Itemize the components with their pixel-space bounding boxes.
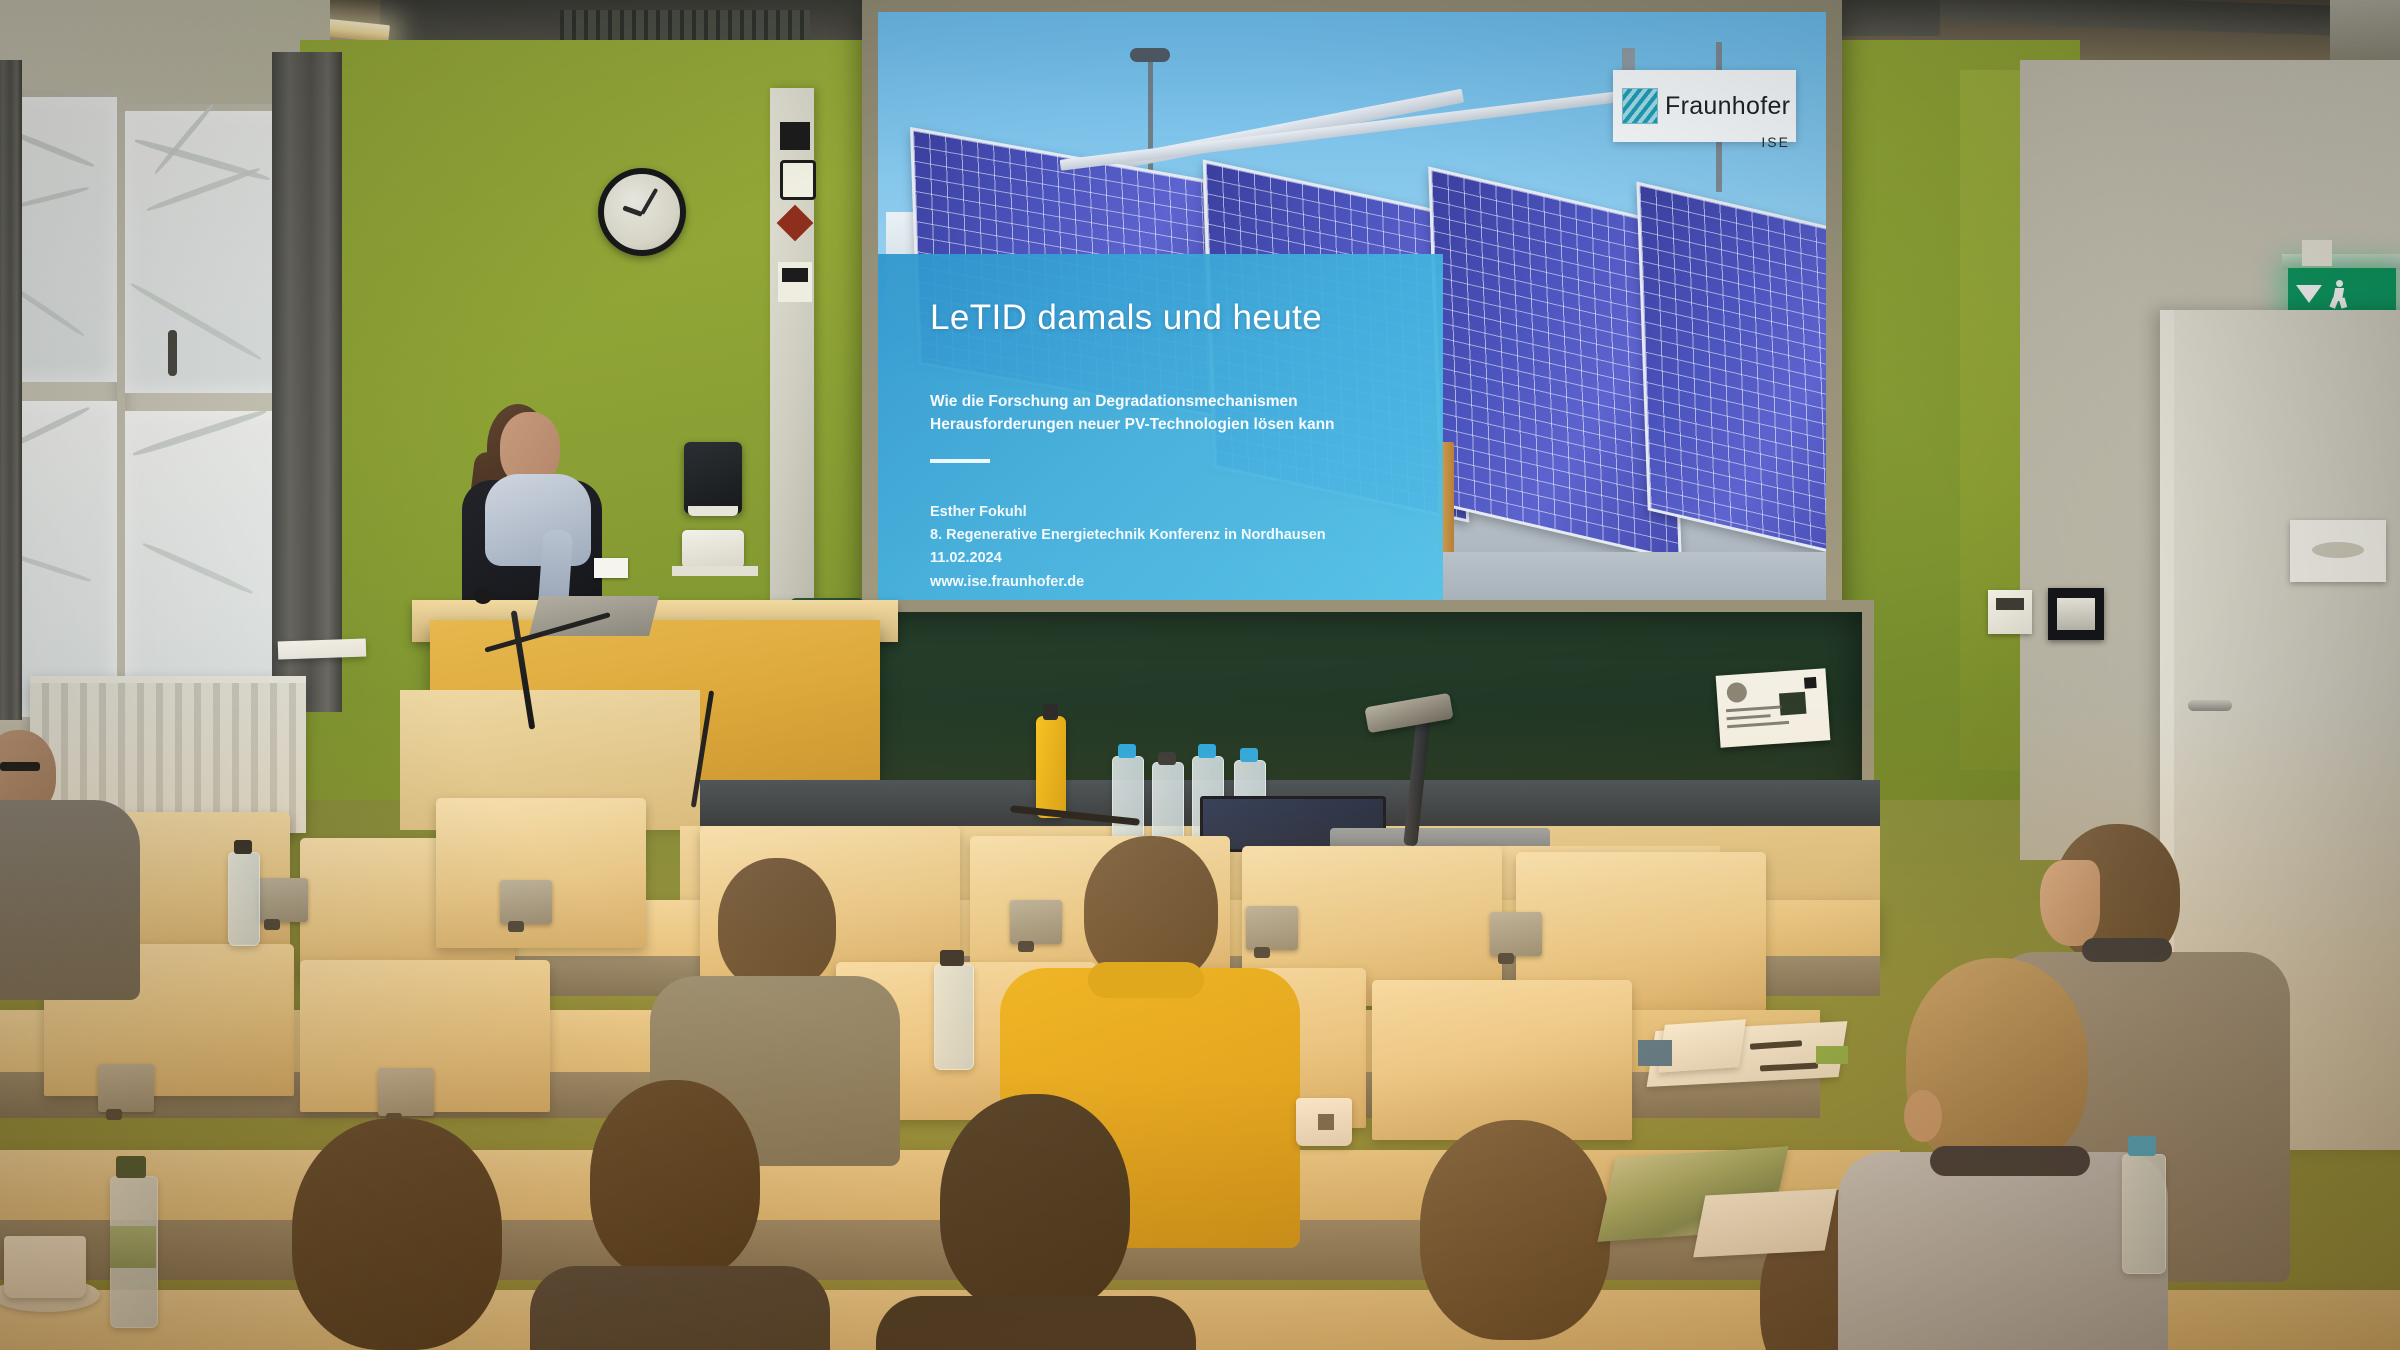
door-notice-symbol bbox=[2312, 542, 2364, 558]
yellow-bottle-cap bbox=[1043, 704, 1058, 720]
fraunhofer-wordmark: Fraunhofer bbox=[1665, 94, 1790, 119]
slide-divider-rule bbox=[930, 459, 990, 463]
speaker-scarf bbox=[485, 474, 591, 566]
desk-microphone[interactable] bbox=[1490, 912, 1542, 956]
down-arrow-icon bbox=[2296, 285, 2322, 303]
mug-logo-icon bbox=[1318, 1114, 1334, 1130]
pv-panel-4 bbox=[1636, 181, 1826, 560]
soap-dispenser[interactable] bbox=[682, 530, 744, 568]
attendee-torso bbox=[530, 1266, 830, 1350]
slide-subtitle: Wie die Forschung an Degradationsmechani… bbox=[930, 390, 1399, 437]
attendee-ear bbox=[1904, 1090, 1942, 1142]
desk-microphone[interactable] bbox=[1010, 900, 1062, 944]
speaker-name-badge bbox=[594, 558, 628, 578]
fraunhofer-diagonal-stripes-icon bbox=[1622, 88, 1658, 124]
water-bottle-cap-2 bbox=[1158, 752, 1176, 765]
desk-microphone[interactable] bbox=[256, 878, 308, 922]
light-switch[interactable] bbox=[1988, 590, 2032, 634]
attendee-head bbox=[292, 1118, 502, 1350]
window-handle[interactable] bbox=[168, 330, 177, 376]
attendee-torso bbox=[876, 1296, 1196, 1350]
blue-booklet[interactable] bbox=[1638, 1040, 1672, 1066]
attendee-face bbox=[2040, 860, 2100, 946]
paper-towel-dispenser bbox=[684, 442, 742, 514]
water-bottle-2[interactable] bbox=[1152, 762, 1184, 844]
wall-clock bbox=[598, 168, 686, 256]
poster-text-line bbox=[1727, 721, 1789, 728]
chalkboard-poster bbox=[1716, 668, 1831, 747]
fire-extinguisher-icon bbox=[780, 160, 816, 200]
projection-screen[interactable]: Fraunhofer ISE LeTID damals und heute Wi… bbox=[878, 12, 1826, 642]
water-bottle-upper-left[interactable] bbox=[228, 852, 260, 946]
upper-wall-panel bbox=[2330, 0, 2400, 60]
water-bottle-green-cap-lid bbox=[116, 1156, 146, 1178]
attendee-head bbox=[940, 1094, 1130, 1314]
fraunhofer-logo: Fraunhofer bbox=[1613, 70, 1796, 142]
seat-back bbox=[436, 798, 646, 948]
slide-author: Esther Fokuhl bbox=[930, 501, 1399, 524]
green-marker bbox=[1816, 1046, 1848, 1064]
slide-text-panel: LeTID damals und heute Wie die Forschung… bbox=[878, 254, 1443, 642]
dispenser-paper bbox=[688, 506, 738, 516]
presentation-slide: Fraunhofer ISE LeTID damals und heute Wi… bbox=[878, 12, 1826, 642]
desk-microphone[interactable] bbox=[98, 1064, 154, 1112]
av-connection-panel[interactable] bbox=[2048, 588, 2104, 640]
water-bottle-1[interactable] bbox=[1112, 756, 1144, 840]
slide-title: LeTID damals und heute bbox=[930, 298, 1399, 338]
door-notice bbox=[2290, 520, 2386, 582]
water-bottle-cap-1 bbox=[1118, 744, 1136, 758]
water-bottle-mid-cap bbox=[940, 950, 964, 966]
emergency-exit-running-man-icon bbox=[2328, 280, 2348, 308]
seat-back bbox=[1372, 980, 1632, 1140]
attendee-shirt-collar bbox=[2082, 938, 2172, 962]
desk-microphone[interactable] bbox=[1246, 906, 1298, 950]
attendee-polo-collar bbox=[1930, 1146, 2090, 1176]
coffee-cup[interactable] bbox=[4, 1236, 86, 1298]
clock-minute-hand bbox=[640, 188, 658, 215]
attendee-head bbox=[1906, 958, 2088, 1170]
attendee-torso bbox=[0, 800, 140, 1000]
clock-hour-hand bbox=[622, 205, 643, 217]
slide-date: 11.02.2024 bbox=[930, 547, 1399, 570]
poster-text-line bbox=[1727, 714, 1771, 720]
water-bottle-mid[interactable] bbox=[934, 964, 974, 1070]
attendee-torso bbox=[1838, 1152, 2168, 1350]
water-bottle-blue-cap-lid bbox=[2128, 1136, 2156, 1156]
slide-photo-sensor bbox=[1130, 48, 1170, 62]
attendee-head bbox=[590, 1080, 760, 1280]
wall-outlet[interactable] bbox=[2302, 240, 2332, 266]
light-switch-rocker[interactable] bbox=[1996, 598, 2024, 610]
column-icon-dark bbox=[782, 268, 808, 282]
window-curtain-edge bbox=[0, 60, 22, 720]
poster-text-line bbox=[1726, 705, 1782, 712]
water-bottle-upper-left-cap bbox=[234, 840, 252, 854]
poster-logo-icon bbox=[1726, 682, 1747, 703]
attendee-collar bbox=[1088, 962, 1204, 998]
desk-microphone[interactable] bbox=[378, 1068, 434, 1116]
lectern-microphone-head bbox=[474, 588, 492, 604]
desk-microphone[interactable] bbox=[500, 880, 552, 924]
slide-website: www.ise.fraunhofer.de bbox=[930, 571, 1399, 594]
water-bottle-blue-cap[interactable] bbox=[2122, 1154, 2166, 1274]
wall-shelf bbox=[672, 566, 758, 576]
hand-symbol-icon bbox=[780, 122, 810, 150]
slide-event: 8. Regenerative Energietechnik Konferenz… bbox=[930, 524, 1399, 547]
av-panel-sockets[interactable] bbox=[2057, 598, 2095, 630]
poster-photo bbox=[1779, 692, 1806, 716]
fraunhofer-institute-label: ISE bbox=[1761, 134, 1790, 150]
bottle-label bbox=[110, 1226, 156, 1268]
yellow-water-bottle[interactable] bbox=[1036, 716, 1066, 818]
door-handle[interactable] bbox=[2188, 700, 2232, 711]
water-bottle-cap-3 bbox=[1198, 744, 1216, 758]
window-curtain bbox=[272, 52, 342, 712]
attendee-head bbox=[718, 858, 836, 990]
water-bottle-cap-4 bbox=[1240, 748, 1258, 762]
poster-corner-mark bbox=[1804, 677, 1817, 689]
attendee-glasses bbox=[0, 762, 40, 771]
attendee-head bbox=[1420, 1120, 1610, 1340]
brochure-page bbox=[1693, 1189, 1837, 1258]
handout-left[interactable] bbox=[278, 638, 367, 659]
lecture-hall-photo: Fraunhofer ISE LeTID damals und heute Wi… bbox=[0, 0, 2400, 1350]
